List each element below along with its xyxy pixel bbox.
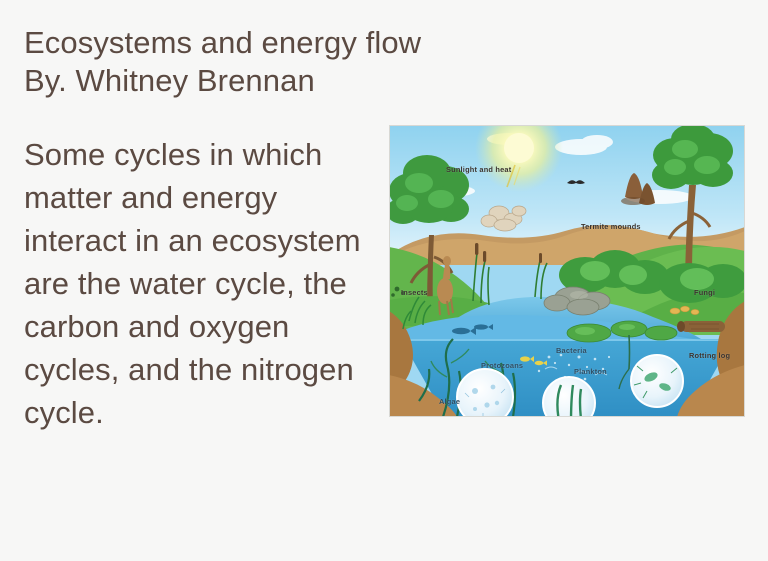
body-paragraph: Some cycles in which matter and energy i… <box>24 133 379 434</box>
page-title-line-1: Ecosystems and energy flow <box>24 24 584 62</box>
body-block: Some cycles in which matter and energy i… <box>24 133 379 434</box>
slide: Ecosystems and energy flow By. Whitney B… <box>0 0 768 561</box>
ecosystem-diagram-image: Sunlight and heat Termite mounds Insects… <box>389 125 745 417</box>
page-title-line-2: By. Whitney Brennan <box>24 62 584 100</box>
ecosystem-illustration <box>389 125 745 417</box>
title-block: Ecosystems and energy flow By. Whitney B… <box>24 24 584 100</box>
